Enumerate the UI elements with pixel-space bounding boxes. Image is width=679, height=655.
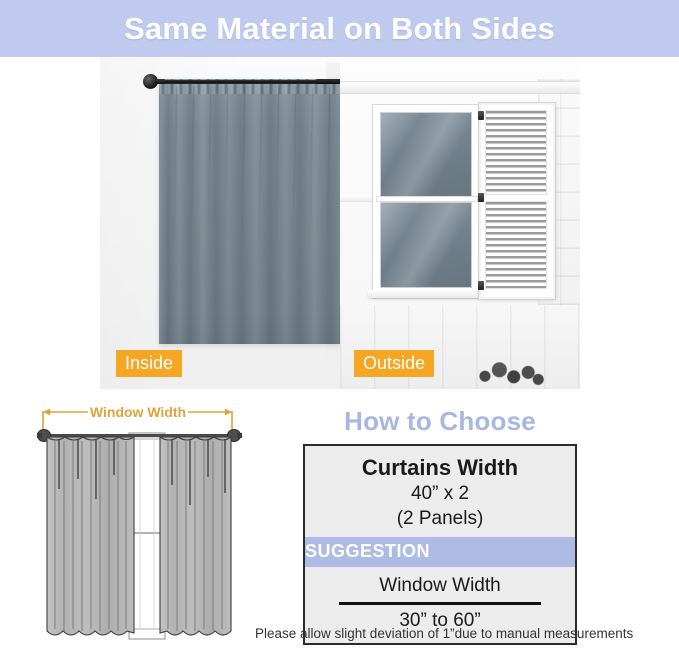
window-sill [368,290,482,298]
infographic-page: Same Material on Both Sides Inside [0,0,679,655]
curtains-panel-count: (2 Panels) [305,507,575,538]
shutter-louvers-top [485,110,547,196]
suggestion-banner: SUGGESTION [305,537,575,567]
curtain-rod-tail [316,79,340,84]
header-banner: Same Material on Both Sides [0,0,679,57]
footnote-text: Please allow slight deviation of 1”due t… [255,625,679,643]
shutter-louvers-bottom [485,201,547,289]
curtain-panel-right [160,437,231,635]
bottom-section: Window Width [0,389,679,655]
window-pane-bottom [380,202,472,288]
label-outside: Outside [354,350,434,378]
photo-comparison-row: Inside Outside [0,57,679,389]
window-pane-top [380,112,472,198]
photo-outside: Outside [340,57,580,389]
fraction-divider [339,602,541,605]
curtain-folds [159,87,340,247]
curtain-panel-left [47,437,134,635]
how-to-choose-title: How to Choose [290,407,590,436]
window-frame [373,105,481,298]
roof-eave-trim [340,81,580,94]
shutter-hinge-icon [478,193,484,202]
photo-inside: Inside [100,57,340,389]
page-title: Same Material on Both Sides [0,0,679,57]
shutter-hinge-icon [478,111,484,120]
label-inside: Inside [116,350,182,378]
curtain-rod [146,80,340,84]
foliage [472,357,544,389]
curtain-measure-diagram: Window Width [22,393,272,649]
curtains-width-size: 40” x 2 [305,481,575,507]
curtain-panel-photo [159,79,340,344]
size-guide-box: Curtains Width 40” x 2 (2 Panels) SUGGES… [303,444,577,645]
window-width-label: Window Width [90,404,186,420]
suggestion-numerator: Window Width [305,567,575,599]
window-shutter [479,103,555,299]
how-to-choose-panel: How to Choose Curtains Width 40” x 2 (2 … [290,407,590,645]
curtains-width-heading: Curtains Width [305,446,575,482]
rod-finial-icon [143,74,158,89]
shutter-hinge-icon [478,281,484,290]
